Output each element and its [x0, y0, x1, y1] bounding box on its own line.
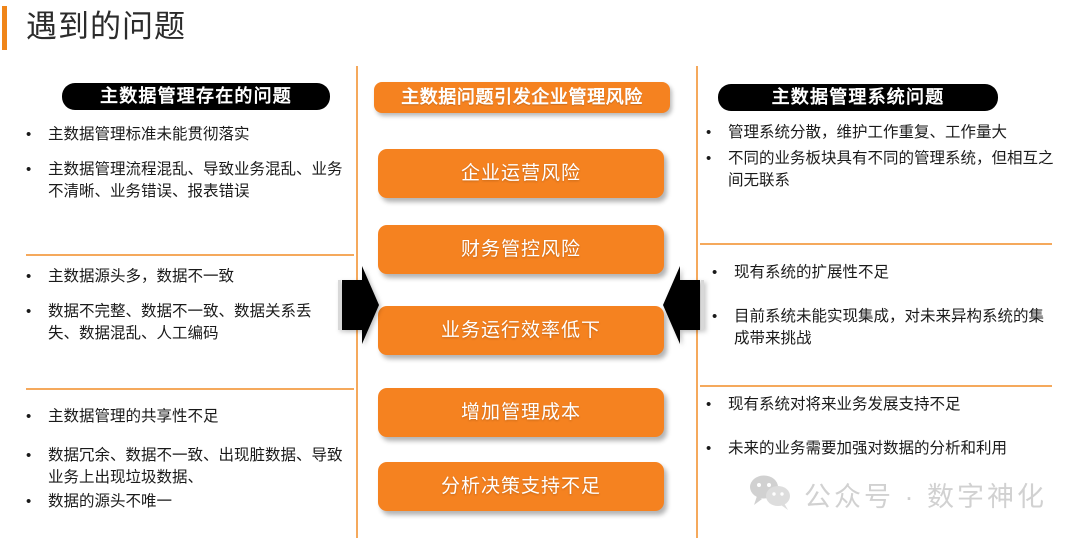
list-item-text: 数据的源头不唯一 — [48, 491, 348, 513]
bullet-icon: • — [706, 394, 728, 416]
risk-item-2[interactable]: 财务管控风险 — [378, 225, 664, 274]
list-item-text: 数据冗余、数据不一致、出现脏数据、导致业务上出现垃圾数据、 — [48, 445, 348, 489]
left-group-1: • 主数据管理标准未能贯彻落实 • 主数据管理流程混乱、导致业务混乱、业务不清晰… — [26, 124, 348, 203]
bullet-icon: • — [26, 301, 48, 323]
title-accent-bar — [2, 6, 7, 50]
list-item: • 未来的业务需要加强对数据的分析和利用 — [706, 438, 1050, 460]
bullet-icon: • — [706, 438, 728, 460]
left-group-2: • 主数据源头多，数据不一致 • 数据不完整、数据不一致、数据关系丢失、数据混乱… — [26, 266, 326, 345]
bullet-icon: • — [706, 122, 728, 144]
list-item: • 数据的源头不唯一 — [26, 491, 348, 513]
right-group-2: • 现有系统的扩展性不足 • 目前系统未能实现集成，对未来异构系统的集成带来挑战 — [712, 262, 1056, 350]
bullet-icon: • — [26, 491, 48, 513]
risk-item-5[interactable]: 分析决策支持不足 — [378, 462, 664, 511]
list-item-text: 主数据管理流程混乱、导致业务混乱、业务不清晰、业务错误、报表错误 — [48, 159, 348, 203]
right-section-divider-1 — [700, 243, 1052, 245]
list-item-text: 管理系统分散，维护工作重复、工作量大 — [728, 122, 1056, 144]
bullet-icon: • — [706, 148, 728, 170]
list-item: • 数据冗余、数据不一致、出现脏数据、导致业务上出现垃圾数据、 — [26, 445, 348, 489]
bullet-icon: • — [26, 124, 48, 146]
bullet-icon: • — [712, 262, 734, 284]
slide-canvas: 遇到的问题 主数据管理存在的问题 • 主数据管理标准未能贯彻落实 • 主数据管理… — [0, 0, 1080, 540]
list-item: • 主数据管理流程混乱、导致业务混乱、业务不清晰、业务错误、报表错误 — [26, 159, 348, 203]
list-item-text: 现有系统的扩展性不足 — [734, 262, 1056, 284]
list-item-text: 现有系统对将来业务发展支持不足 — [728, 394, 1050, 416]
bullet-icon: • — [26, 159, 48, 181]
list-item-text: 不同的业务板块具有不同的管理系统，但相互之间无联系 — [728, 148, 1056, 192]
list-item-text: 数据不完整、数据不一致、数据关系丢失、数据混乱、人工编码 — [48, 301, 326, 345]
list-item-text: 目前系统未能实现集成，对未来异构系统的集成带来挑战 — [734, 306, 1056, 350]
page-title: 遇到的问题 — [26, 7, 186, 47]
arrow-right-icon — [338, 266, 380, 349]
list-item: • 数据不完整、数据不一致、数据关系丢失、数据混乱、人工编码 — [26, 301, 326, 345]
risk-item-3[interactable]: 业务运行效率低下 — [378, 306, 664, 355]
bullet-icon: • — [712, 306, 734, 328]
list-item: • 主数据源头多，数据不一致 — [26, 266, 326, 288]
watermark: 公众号 · 数字神化 — [748, 474, 1047, 515]
wechat-icon — [748, 474, 794, 515]
middle-column-heading: 主数据问题引发企业管理风险 — [374, 82, 670, 113]
arrow-left-icon — [662, 266, 704, 349]
list-item-text: 主数据源头多，数据不一致 — [48, 266, 326, 288]
left-section-divider-1 — [26, 254, 354, 256]
list-item: • 现有系统对将来业务发展支持不足 — [706, 394, 1050, 416]
list-item: • 主数据管理标准未能贯彻落实 — [26, 124, 348, 146]
right-section-divider-2 — [700, 385, 1052, 387]
list-item: • 管理系统分散，维护工作重复、工作量大 — [706, 122, 1056, 144]
list-item: • 不同的业务板块具有不同的管理系统，但相互之间无联系 — [706, 148, 1056, 192]
right-group-3: • 现有系统对将来业务发展支持不足 • 未来的业务需要加强对数据的分析和利用 — [706, 394, 1050, 460]
list-item: • 主数据管理的共享性不足 — [26, 406, 348, 428]
left-section-divider-2 — [26, 388, 354, 390]
right-group-1: • 管理系统分散，维护工作重复、工作量大 • 不同的业务板块具有不同的管理系统，… — [706, 122, 1056, 194]
watermark-text: 公众号 · 数字神化 — [804, 475, 1047, 514]
list-item-text: 主数据管理的共享性不足 — [48, 406, 348, 428]
left-column-heading: 主数据管理存在的问题 — [62, 83, 330, 110]
list-item-text: 未来的业务需要加强对数据的分析和利用 — [728, 438, 1050, 460]
bullet-icon: • — [26, 445, 48, 467]
risk-item-1[interactable]: 企业运营风险 — [378, 149, 664, 198]
left-group-3: • 主数据管理的共享性不足 • 数据冗余、数据不一致、出现脏数据、导致业务上出现… — [26, 406, 348, 515]
list-item-text: 主数据管理标准未能贯彻落实 — [48, 124, 348, 146]
list-item: • 现有系统的扩展性不足 — [712, 262, 1056, 284]
bullet-icon: • — [26, 266, 48, 288]
right-column-heading: 主数据管理系统问题 — [718, 84, 998, 111]
list-item: • 目前系统未能实现集成，对未来异构系统的集成带来挑战 — [712, 306, 1056, 350]
risk-item-4[interactable]: 增加管理成本 — [378, 388, 664, 437]
bullet-icon: • — [26, 406, 48, 428]
